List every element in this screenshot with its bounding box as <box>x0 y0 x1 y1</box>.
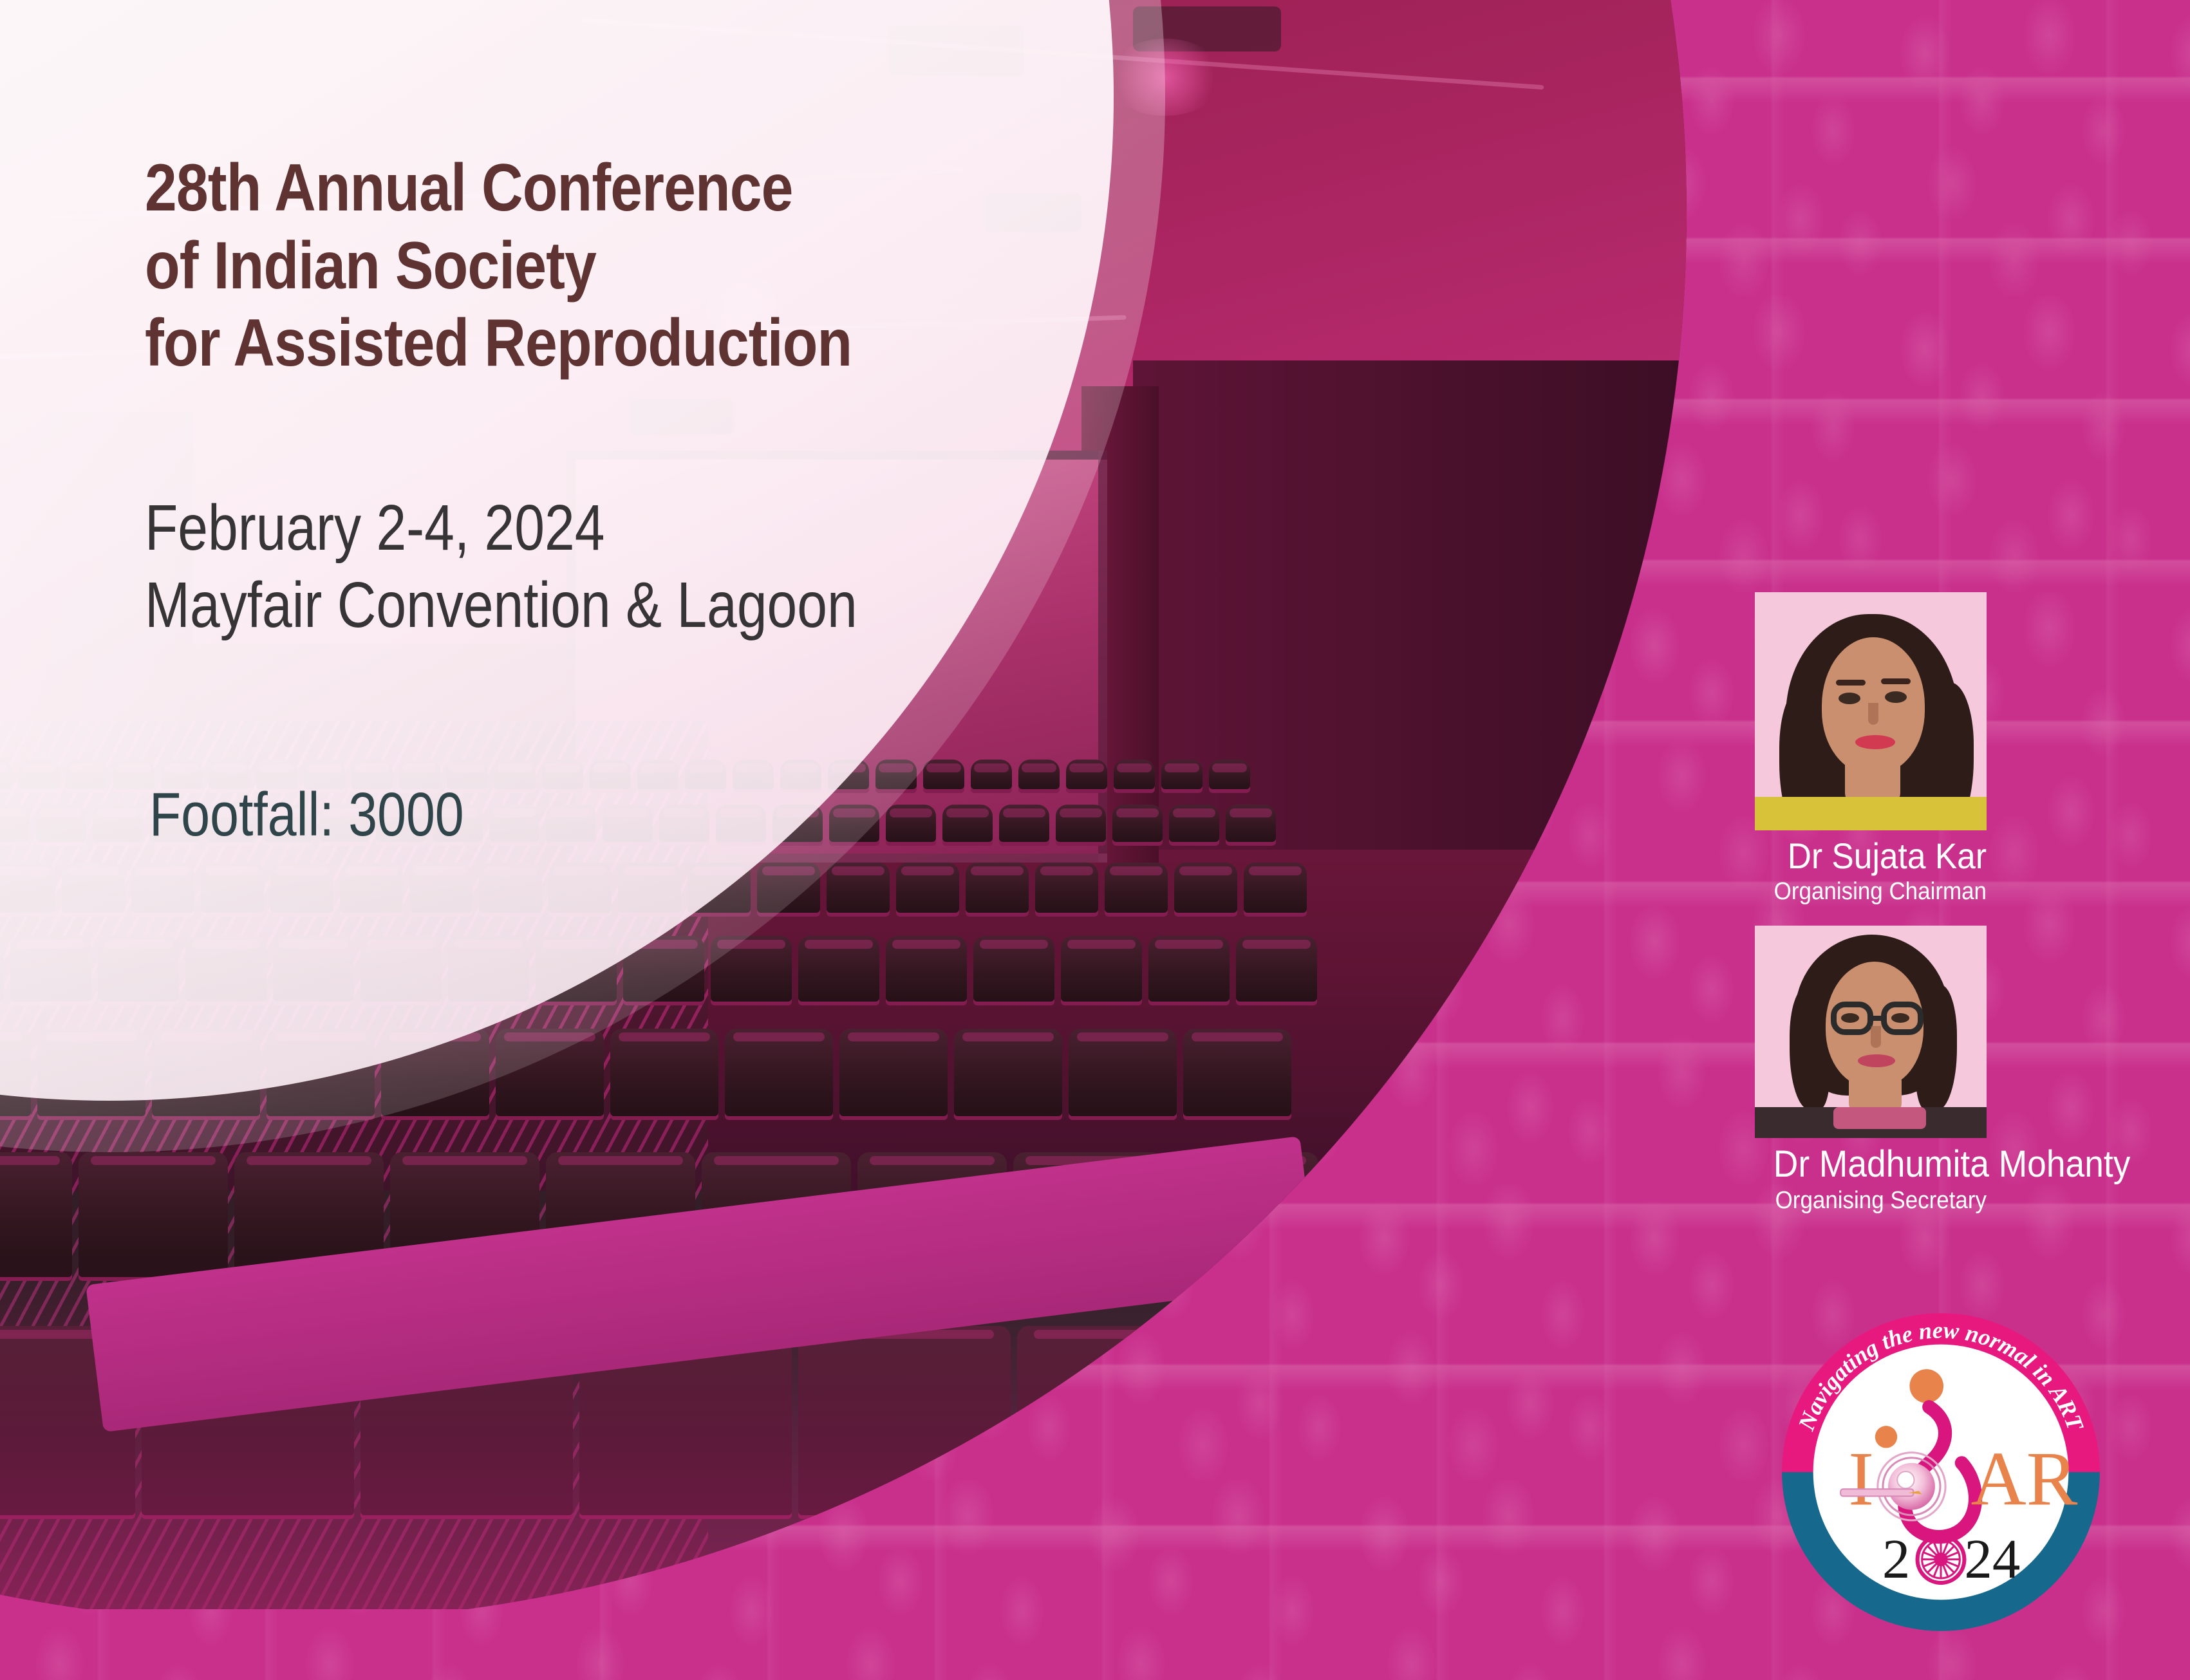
organiser-card: Dr Sujata Kar Organising Chairman <box>1755 592 1987 904</box>
logo-dot-lower <box>1875 1426 1897 1448</box>
avatar <box>1755 592 1987 830</box>
logo-letter-i: I <box>1848 1437 1874 1522</box>
conference-poster: 28th Annual Conference of Indian Society… <box>0 0 2190 1680</box>
organiser-role: Organising Secretary <box>1774 1188 1987 1213</box>
date-venue: February 2-4, 2024 Mayfair Convention & … <box>145 489 857 644</box>
konark-wheel-icon <box>1918 1536 1965 1583</box>
isar-2024-logo: Navigating the new normal in ART BHUBANE… <box>1778 1309 2104 1635</box>
logo-dot-upper <box>1909 1369 1943 1403</box>
organiser-role: Organising Chairman <box>1774 879 1987 904</box>
logo-year-prefix: 2 <box>1882 1527 1911 1590</box>
organiser-name: Dr Sujata Kar <box>1774 838 1987 874</box>
avatar <box>1755 926 1987 1138</box>
organisers-list: Dr Sujata Kar Organising Chairman <box>1755 592 1987 1235</box>
logo-micropipette <box>1840 1489 1913 1496</box>
page-title: 28th Annual Conference of Indian Society… <box>145 149 852 382</box>
logo-letters-ar: AR <box>1971 1437 2078 1522</box>
footfall-stat: Footfall: 3000 <box>149 784 464 846</box>
logo-year-suffix: 24 <box>1964 1527 2020 1590</box>
organiser-name: Dr Madhumita Mohanty <box>1774 1146 1987 1183</box>
organiser-card: Dr Madhumita Mohanty Organising Secretar… <box>1755 926 1987 1213</box>
